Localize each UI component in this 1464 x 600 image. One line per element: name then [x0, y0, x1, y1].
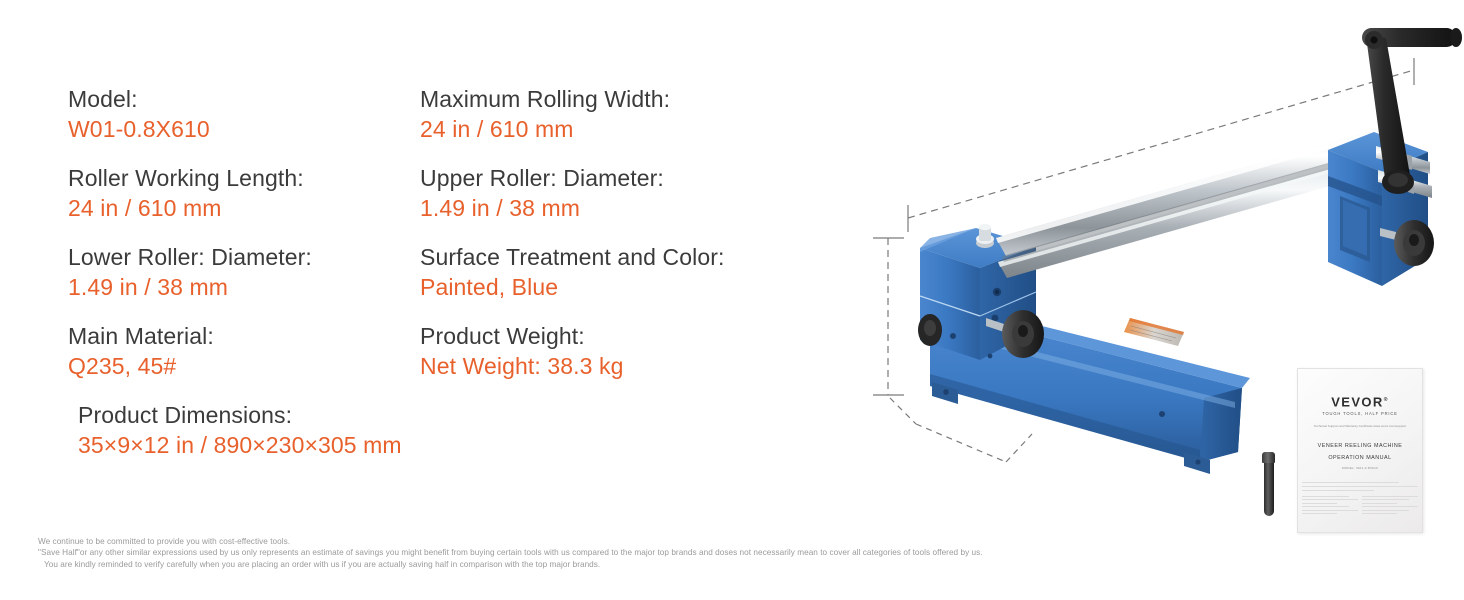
spec-item-maximum-rolling-width: Maximum Rolling Width: 24 in / 610 mm: [420, 84, 772, 144]
spec-item-product-dimensions: Product Dimensions: 35×9×12 in / 890×230…: [78, 400, 782, 460]
spec-row: Product Dimensions: 35×9×12 in / 890×230…: [68, 400, 828, 460]
spec-row: Main Material: Q235, 45# Product Weight:…: [68, 321, 828, 381]
spec-item-lower-roller-diameter: Lower Roller: Diameter: 1.49 in / 38 mm: [68, 242, 420, 302]
text-line: [1302, 499, 1358, 500]
spec-value: 1.49 in / 38 mm: [420, 193, 772, 223]
text-line: [1302, 490, 1374, 491]
spec-value: 35×9×12 in / 890×230×305 mm: [78, 430, 782, 460]
text-line: [1362, 499, 1409, 500]
manual-title-line-2: OPERATION MANUAL: [1307, 454, 1413, 463]
vevor-logo-text: VEVOR: [1331, 394, 1384, 409]
spec-value: Painted, Blue: [420, 272, 772, 302]
spec-row: Roller Working Length: 24 in / 610 mm Up…: [68, 163, 828, 223]
vevor-logo: VEVOR®: [1307, 393, 1413, 409]
spec-value: Net Weight: 38.3 kg: [420, 351, 772, 381]
text-line: [1302, 496, 1349, 497]
text-line: [1302, 486, 1418, 487]
text-line: [1362, 503, 1397, 504]
spec-label: Product Weight:: [420, 321, 772, 351]
spec-label: Maximum Rolling Width:: [420, 84, 772, 114]
manual-title-line-1: VENEER REELING MACHINE: [1307, 442, 1413, 451]
product-spec-infographic: Model: W01-0.8X610 Maximum Rolling Width…: [0, 0, 1464, 600]
spec-label: Surface Treatment and Color:: [420, 242, 772, 272]
dimension-line-height: [873, 238, 904, 395]
manual-support-note: Technical Support and Warranty Certifica…: [1307, 424, 1413, 429]
registered-trademark-icon: ®: [1384, 397, 1389, 403]
spec-label: Roller Working Length:: [68, 163, 420, 193]
pin-body: [1264, 463, 1274, 516]
spec-value: 24 in / 610 mm: [420, 114, 772, 144]
spec-item-upper-roller-diameter: Upper Roller: Diameter: 1.49 in / 38 mm: [420, 163, 772, 223]
spec-item-product-weight: Product Weight: Net Weight: 38.3 kg: [420, 321, 772, 381]
text-line: [1302, 510, 1358, 511]
text-line: [1302, 513, 1337, 514]
spec-row: Lower Roller: Diameter: 1.49 in / 38 mm …: [68, 242, 828, 302]
text-line: [1362, 510, 1409, 511]
side-knob-small: [918, 314, 942, 346]
spec-value: 24 in / 610 mm: [68, 193, 420, 223]
spec-label: Lower Roller: Diameter:: [68, 242, 420, 272]
text-line: [1362, 513, 1397, 514]
spec-value: W01-0.8X610: [68, 114, 420, 144]
spec-value: 1.49 in / 38 mm: [68, 272, 420, 302]
spec-label: Upper Roller: Diameter:: [420, 163, 772, 193]
text-line: [1302, 503, 1337, 504]
spec-item-surface-treatment-and-color: Surface Treatment and Color: Painted, Bl…: [420, 242, 772, 302]
spec-label: Model:: [68, 84, 420, 114]
roller-pin-accessory: [1262, 452, 1275, 516]
spec-item-roller-working-length: Roller Working Length: 24 in / 610 mm: [68, 163, 420, 223]
manual-tagline: TOUGH TOOLS, HALF PRICE: [1307, 411, 1413, 416]
pin-head: [1262, 452, 1275, 463]
specifications-table: Model: W01-0.8X610 Maximum Rolling Width…: [68, 84, 828, 479]
spec-label: Product Dimensions:: [78, 400, 782, 430]
spec-value: Q235, 45#: [68, 351, 420, 381]
text-line: [1302, 482, 1399, 483]
manual-body-placeholder-text: [1298, 482, 1422, 517]
text-line: [1302, 506, 1349, 507]
spec-row: Model: W01-0.8X610 Maximum Rolling Width…: [68, 84, 828, 144]
spec-item-main-material: Main Material: Q235, 45#: [68, 321, 420, 381]
operation-manual-booklet: VEVOR® TOUGH TOOLS, HALF PRICE Technical…: [1297, 368, 1423, 533]
text-line: [1362, 506, 1418, 507]
manual-model-line: MODEL: W01-0.8X610: [1307, 466, 1413, 470]
spec-item-model: Model: W01-0.8X610: [68, 84, 420, 144]
nameplate-label: [1124, 318, 1184, 346]
text-line: [1362, 496, 1418, 497]
spec-label: Main Material:: [68, 321, 420, 351]
